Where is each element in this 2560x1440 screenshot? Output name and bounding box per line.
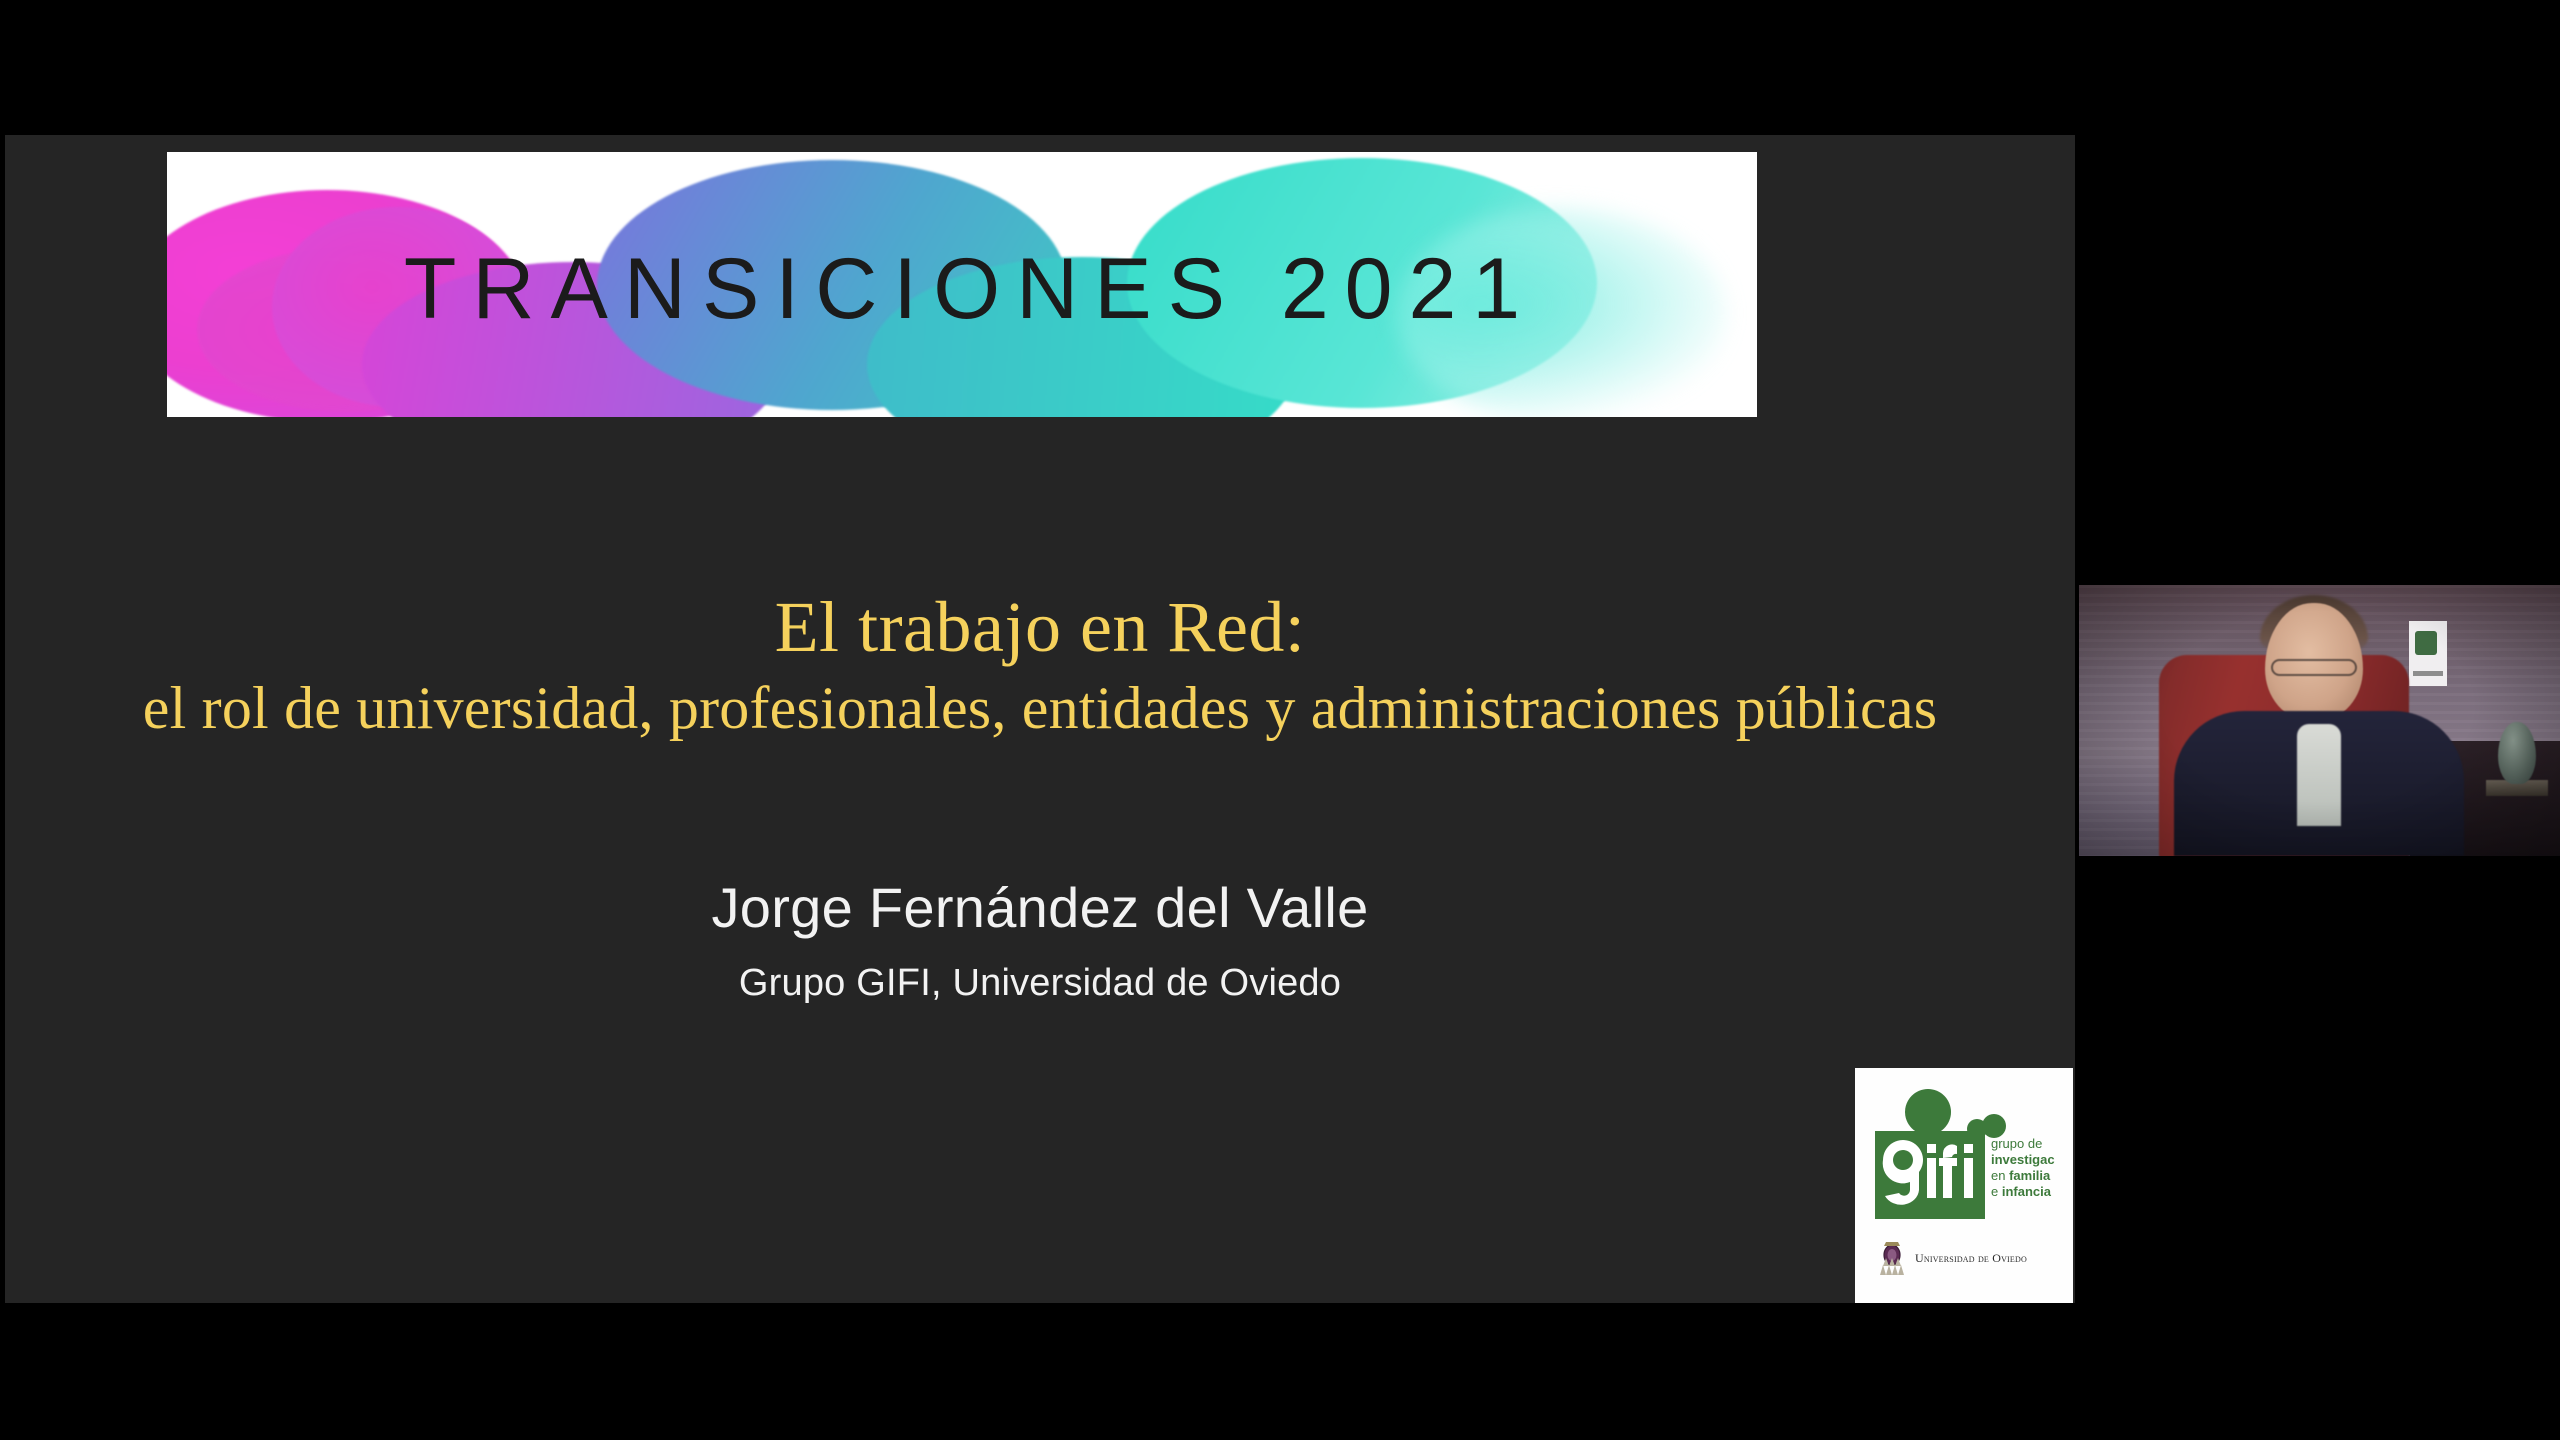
- svg-text:en familia: en familia: [1991, 1168, 2051, 1183]
- slide-title-subtitle: el rol de universidad, profesionales, en…: [5, 675, 2075, 742]
- screen-share-stage: TRANSICIONES 2021 El trabajo en Red: el …: [0, 0, 2560, 1440]
- oviedo-crest-icon: [1875, 1239, 1909, 1277]
- svg-text:investigación: investigación: [1991, 1152, 2055, 1167]
- presenter-video-tile[interactable]: [2079, 585, 2560, 856]
- university-name: Universidad de Oviedo: [1915, 1251, 2027, 1266]
- video-vignette: [2079, 585, 2560, 856]
- banner-title: TRANSICIONES 2021: [167, 240, 1757, 339]
- slide-author-block: Jorge Fernández del Valle Grupo GIFI, Un…: [5, 875, 2075, 1005]
- slide-title-block: El trabajo en Red: el rol de universidad…: [5, 590, 2075, 742]
- author-name: Jorge Fernández del Valle: [5, 875, 2075, 940]
- event-banner: TRANSICIONES 2021: [167, 152, 1757, 417]
- slide-title-main: El trabajo en Red:: [5, 590, 2075, 665]
- presentation-slide[interactable]: TRANSICIONES 2021 El trabajo en Red: el …: [5, 135, 2075, 1303]
- gifi-logo: grupo de investigación en familia e infa…: [1855, 1068, 2073, 1303]
- gifi-wordmark-icon: grupo de investigación en familia e infa…: [1873, 1086, 2055, 1226]
- svg-text:grupo de: grupo de: [1991, 1136, 2042, 1151]
- author-affiliation: Grupo GIFI, Universidad de Oviedo: [5, 962, 2075, 1005]
- svg-text:e infancia: e infancia: [1991, 1184, 2052, 1199]
- university-of-oviedo-lockup: Universidad de Oviedo: [1875, 1236, 2055, 1280]
